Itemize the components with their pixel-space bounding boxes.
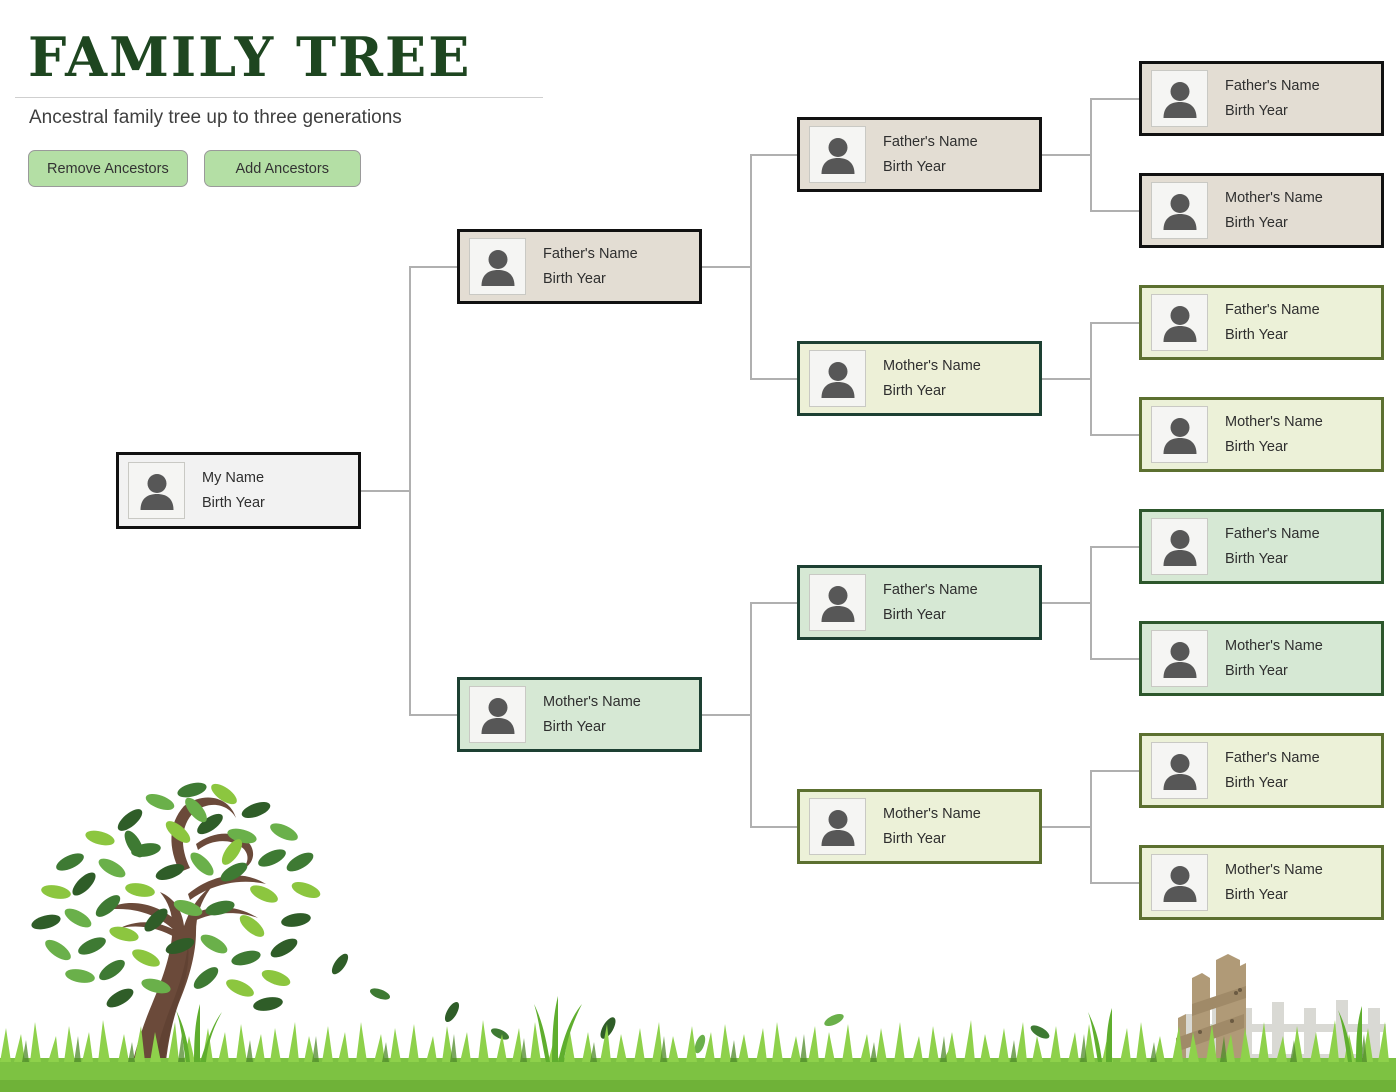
person-avatar-icon — [1151, 630, 1208, 687]
node-gen2-paternal-grandmother[interactable]: Mother's Name Birth Year — [797, 341, 1042, 416]
person-avatar-icon — [1151, 182, 1208, 239]
node-self[interactable]: My Name Birth Year — [116, 452, 361, 529]
connector-gen3d-spine — [1090, 770, 1092, 882]
connector-gen3-2-in — [1090, 210, 1140, 212]
person-name: Mother's Name — [1225, 863, 1323, 878]
person-birth-year: Birth Year — [1225, 664, 1323, 679]
person-birth-year: Birth Year — [543, 720, 641, 735]
node-info: Mother's Name Birth Year — [1225, 863, 1323, 903]
page-subtitle: Ancestral family tree up to three genera… — [29, 107, 402, 129]
connector-gen2-father-in — [750, 154, 800, 156]
person-avatar-icon — [809, 574, 866, 631]
person-name: My Name — [202, 471, 265, 486]
node-info: Mother's Name Birth Year — [543, 695, 641, 735]
person-birth-year: Birth Year — [1225, 328, 1320, 343]
node-gen1-mother[interactable]: Mother's Name Birth Year — [457, 677, 702, 752]
connector-gen2b-spine — [750, 602, 752, 826]
connector-gen3-5-in — [1090, 546, 1140, 548]
person-avatar-icon — [1151, 406, 1208, 463]
node-info: Father's Name Birth Year — [543, 247, 638, 287]
person-name: Father's Name — [883, 583, 978, 598]
person-avatar-icon — [1151, 294, 1208, 351]
person-name: Father's Name — [1225, 751, 1320, 766]
node-info: Father's Name Birth Year — [1225, 751, 1320, 791]
decorative-tree-icon — [30, 780, 322, 1091]
person-birth-year: Birth Year — [883, 608, 978, 623]
node-gen3-3[interactable]: Father's Name Birth Year — [1139, 285, 1384, 360]
connector-gen2d-out — [1042, 826, 1092, 828]
person-name: Mother's Name — [1225, 639, 1323, 654]
title-divider — [15, 97, 543, 98]
connector-gen3c-spine — [1090, 546, 1092, 658]
connector-gen1-mother-out — [702, 714, 752, 716]
person-birth-year: Birth Year — [1225, 440, 1323, 455]
person-birth-year: Birth Year — [543, 272, 638, 287]
person-avatar-icon — [1151, 70, 1208, 127]
connector-gen3-1-in — [1090, 98, 1140, 100]
node-gen3-8[interactable]: Mother's Name Birth Year — [1139, 845, 1384, 920]
person-avatar-icon — [809, 126, 866, 183]
node-gen2-maternal-grandfather[interactable]: Father's Name Birth Year — [797, 565, 1042, 640]
node-gen3-6[interactable]: Mother's Name Birth Year — [1139, 621, 1384, 696]
connector-gen2-mother-in — [750, 378, 800, 380]
person-name: Father's Name — [1225, 79, 1320, 94]
person-name: Mother's Name — [1225, 415, 1323, 430]
person-avatar-icon — [469, 686, 526, 743]
person-birth-year: Birth Year — [1225, 216, 1323, 231]
person-avatar-icon — [1151, 854, 1208, 911]
person-name: Father's Name — [1225, 527, 1320, 542]
connector-gen1-father-out — [702, 266, 752, 268]
person-birth-year: Birth Year — [1225, 104, 1320, 119]
node-info: Mother's Name Birth Year — [1225, 415, 1323, 455]
page-title: FAMILY TREE — [28, 30, 471, 84]
person-name: Mother's Name — [883, 359, 981, 374]
person-name: Father's Name — [1225, 303, 1320, 318]
node-info: Father's Name Birth Year — [1225, 79, 1320, 119]
person-name: Father's Name — [883, 135, 978, 150]
connector-gen2-father2-in — [750, 602, 800, 604]
person-avatar-icon — [1151, 742, 1208, 799]
connector-gen3-6-in — [1090, 658, 1140, 660]
node-info: Mother's Name Birth Year — [883, 807, 981, 847]
connector-gen2a-out — [1042, 154, 1092, 156]
person-name: Mother's Name — [883, 807, 981, 822]
person-name: Mother's Name — [1225, 191, 1323, 206]
connector-gen3b-spine — [1090, 322, 1092, 434]
person-birth-year: Birth Year — [883, 384, 981, 399]
node-info: Father's Name Birth Year — [1225, 527, 1320, 567]
node-gen3-2[interactable]: Mother's Name Birth Year — [1139, 173, 1384, 248]
person-birth-year: Birth Year — [1225, 776, 1320, 791]
connector-gen3-8-in — [1090, 882, 1140, 884]
person-name: Father's Name — [543, 247, 638, 262]
person-avatar-icon — [809, 798, 866, 855]
node-gen2-paternal-grandfather[interactable]: Father's Name Birth Year — [797, 117, 1042, 192]
node-gen3-5[interactable]: Father's Name Birth Year — [1139, 509, 1384, 584]
person-avatar-icon — [128, 462, 185, 519]
connector-gen3-3-in — [1090, 322, 1140, 324]
person-avatar-icon — [809, 350, 866, 407]
node-info: Mother's Name Birth Year — [883, 359, 981, 399]
falling-leaves-icon — [329, 951, 1052, 1077]
node-gen1-father[interactable]: Father's Name Birth Year — [457, 229, 702, 304]
grass-strip-icon — [0, 996, 1396, 1092]
node-info: Father's Name Birth Year — [883, 583, 978, 623]
node-gen3-4[interactable]: Mother's Name Birth Year — [1139, 397, 1384, 472]
connector-gen2b-out — [1042, 378, 1092, 380]
connector-gen1-father-in — [409, 266, 459, 268]
toolbar: Remove Ancestors Add Ancestors — [28, 150, 361, 187]
connector-gen2a-spine — [750, 154, 752, 378]
node-info: Father's Name Birth Year — [883, 135, 978, 175]
connector-gen3-7-in — [1090, 770, 1140, 772]
person-birth-year: Birth Year — [1225, 552, 1320, 567]
person-birth-year: Birth Year — [1225, 888, 1323, 903]
connector-gen1-mother-in — [409, 714, 459, 716]
node-info: Father's Name Birth Year — [1225, 303, 1320, 343]
node-gen3-7[interactable]: Father's Name Birth Year — [1139, 733, 1384, 808]
person-avatar-icon — [469, 238, 526, 295]
remove-ancestors-button[interactable]: Remove Ancestors — [28, 150, 188, 187]
connector-gen1-spine — [409, 266, 411, 716]
node-gen3-1[interactable]: Father's Name Birth Year — [1139, 61, 1384, 136]
node-gen2-maternal-grandmother[interactable]: Mother's Name Birth Year — [797, 789, 1042, 864]
family-tree-page: FAMILY TREE Ancestral family tree up to … — [0, 0, 1396, 1092]
person-avatar-icon — [1151, 518, 1208, 575]
add-ancestors-button[interactable]: Add Ancestors — [204, 150, 361, 187]
person-name: Mother's Name — [543, 695, 641, 710]
person-birth-year: Birth Year — [883, 832, 981, 847]
node-info: Mother's Name Birth Year — [1225, 639, 1323, 679]
person-birth-year: Birth Year — [883, 160, 978, 175]
wooden-fence-icon — [1176, 954, 1386, 1076]
node-info: Mother's Name Birth Year — [1225, 191, 1323, 231]
node-info: My Name Birth Year — [202, 471, 265, 511]
connector-self-out — [361, 490, 411, 492]
connector-gen2c-out — [1042, 602, 1092, 604]
connector-gen3-4-in — [1090, 434, 1140, 436]
connector-gen3a-spine — [1090, 98, 1092, 210]
connector-gen2-mother2-in — [750, 826, 800, 828]
person-birth-year: Birth Year — [202, 496, 265, 511]
